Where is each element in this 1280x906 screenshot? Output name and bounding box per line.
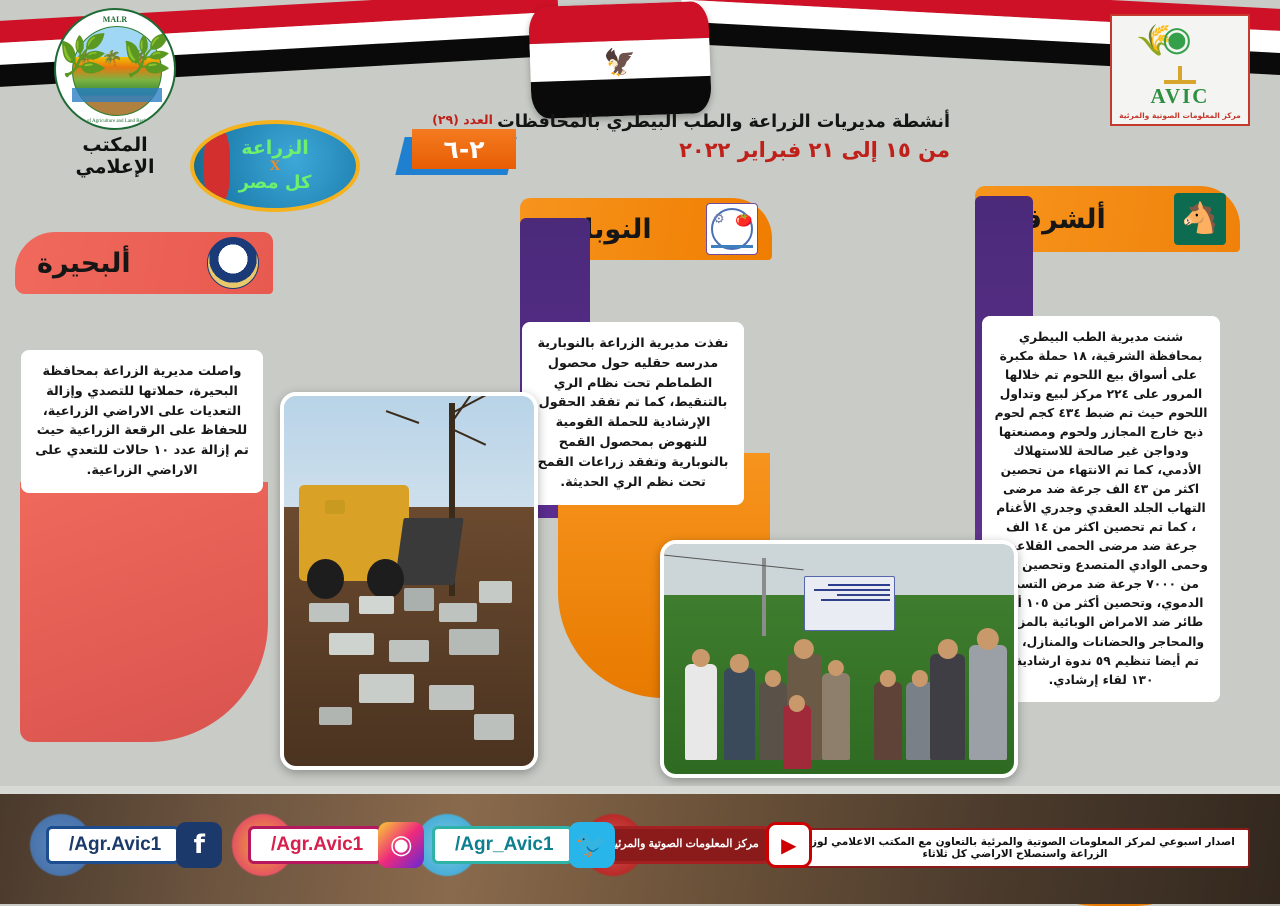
footer-disclaimer-text: اصدار اسبوعي لمركز المعلومات الصوتية وال…	[780, 828, 1250, 868]
issue-label: العدد (٢٩)	[400, 112, 525, 127]
avic-broadcast-mark-icon: 🌾 ◉	[1132, 20, 1228, 84]
twitter-icon[interactable]: 🐦	[569, 822, 615, 868]
flag-stripe-white	[529, 38, 710, 82]
card-header-banner: ألبحيرة	[15, 232, 273, 294]
wreath-right-icon: 🌿	[122, 32, 172, 79]
issue-number-text: ٢-٦	[412, 129, 516, 169]
beheira-emblem-icon	[207, 237, 259, 289]
horse-icon: 🐴	[1181, 204, 1218, 234]
attendee-person	[822, 673, 850, 760]
governorate-card-nubaria: 🍅 ⚙ النوبارية نفذت مديرية الزراعة بالنوب…	[520, 198, 772, 505]
event-banner-sign	[804, 576, 895, 631]
facebook-icon[interactable]: f	[176, 822, 222, 868]
nubaria-emblem-icon: 🍅 ⚙	[706, 203, 758, 255]
governorate-card-beheira: ألبحيرة واصلت مديرية الزراعة بمحافظة الب…	[15, 232, 273, 493]
wreath-left-icon: 🌿	[58, 32, 108, 79]
bulldozer-removing-encroachment-photo	[280, 392, 538, 770]
card-decoration-shape	[20, 482, 268, 742]
eagle-of-saladin-icon: 🦅	[603, 49, 636, 76]
sharqia-horse-flag-icon: 🐴	[1174, 193, 1226, 245]
governorate-name: ألبحيرة	[29, 248, 131, 279]
facebook-handle[interactable]: /Agr.Avic1	[46, 826, 180, 864]
flag-stripe-red	[528, 1, 709, 45]
avic-logo: 🌾 ◉ AVIC مركز المعلومات الصوتية والمرئية	[1110, 14, 1250, 126]
issue-number-badge: ٢-٦	[400, 129, 525, 175]
social-link-facebook[interactable]: f /Agr.Avic1	[46, 822, 222, 868]
brand-oval-logo: الزراعة X كل مصر	[190, 120, 360, 212]
page-title: أنشطة مديريات الزراعة والطب البيطري بالم…	[660, 112, 950, 162]
social-link-instagram[interactable]: ◉ /Agr.Avic1	[248, 822, 424, 868]
title-line-2-daterange: من ١٥ إلى ٢١ فبراير ٢٠٢٢	[660, 138, 950, 162]
malr-ring-bottom-text: Ministry of Agriculture and Land Reclama…	[56, 119, 174, 124]
footer-bar: f /Agr.Avic1 ◉ /Agr.Avic1 🐦 /Agr_Avic1 ▶…	[0, 794, 1280, 904]
attendee-person	[874, 682, 902, 760]
attendee-person	[685, 664, 717, 761]
attendee-person	[724, 668, 756, 760]
utility-pole-icon	[762, 558, 766, 636]
twitter-handle[interactable]: /Agr_Avic1	[432, 826, 573, 864]
malr-logo: MALR 🌴🌴🌴 🌿 🌿 Ministry of Agriculture and…	[40, 8, 190, 178]
instagram-handle[interactable]: /Agr.Avic1	[248, 826, 382, 864]
media-office-label: المكتب الإعلامي	[40, 134, 190, 178]
youtube-icon[interactable]: ▶	[766, 822, 812, 868]
bulldozer-blade	[394, 518, 463, 585]
brand-line-1: الزراعة	[241, 139, 308, 159]
social-link-youtube[interactable]: ▶ مركز المعلومات الصوتية والمرئية	[598, 822, 812, 868]
social-link-twitter[interactable]: 🐦 /Agr_Avic1	[432, 822, 615, 868]
attendee-person	[930, 654, 965, 760]
footer-divider	[0, 786, 1280, 794]
field-school-wheat-crop-photo	[660, 540, 1018, 778]
card-body-text: واصلت مديرية الزراعة بمحافظة البحيرة، حم…	[21, 350, 263, 493]
instagram-icon[interactable]: ◉	[378, 822, 424, 868]
egypt-flag-center: 🦅	[528, 1, 712, 119]
avic-name-text: AVIC	[1151, 84, 1210, 109]
child-person	[783, 705, 811, 769]
avic-base	[1164, 80, 1196, 84]
avic-subtitle-text: مركز المعلومات الصوتية والمرئية	[1119, 111, 1241, 120]
title-line-1: أنشطة مديريات الزراعة والطب البيطري بالم…	[660, 112, 950, 132]
card-body-text: نفذت مديرية الزراعة بالنوبارية مدرسه حقل…	[522, 322, 744, 505]
brand-line-3: كل مصر	[239, 174, 312, 193]
malr-seal-icon: MALR 🌴🌴🌴 🌿 🌿 Ministry of Agriculture and…	[54, 8, 176, 130]
malr-water-band	[72, 88, 162, 102]
malr-ring-top-text: MALR	[56, 15, 174, 24]
youtube-channel-name[interactable]: مركز المعلومات الصوتية والمرئية	[598, 826, 770, 864]
issue-badge: العدد (٢٩) ٢-٦	[400, 112, 525, 175]
attendee-person	[969, 645, 1008, 760]
broadcast-waves-icon: ◉	[1162, 22, 1192, 56]
